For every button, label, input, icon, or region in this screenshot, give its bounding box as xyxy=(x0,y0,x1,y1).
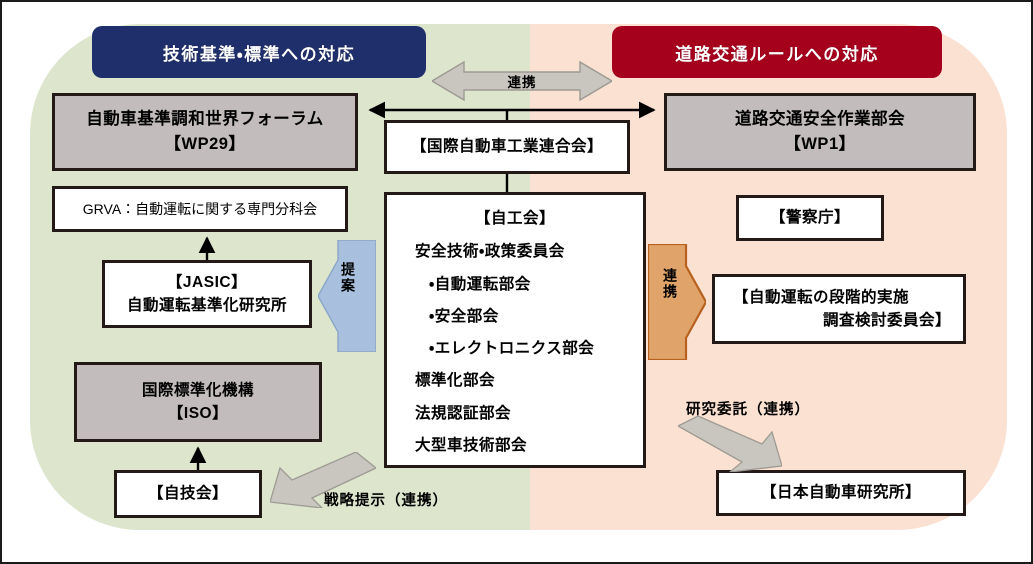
box-npa[interactable]: 【警察庁】 xyxy=(736,195,884,241)
box-jama-subcommittee-1: ・安全部会 xyxy=(387,305,643,328)
box-jama-subcommittee-2: ・エレクトロニクス部会 xyxy=(387,337,643,360)
box-jama-committee: 安全技術・政策委員会 xyxy=(387,240,643,263)
box-jasic-line2: 自動運転基準化研究所 xyxy=(127,294,287,317)
banner-road-traffic-rules: 道路交通ルールへの対応 xyxy=(612,26,942,78)
banner-technical-standards-label: 技術基準・標準への対応 xyxy=(163,40,355,65)
box-oica-label: 【国際自動車工業連合会】 xyxy=(411,135,603,158)
arrow-renkei-side: 連携 xyxy=(648,244,706,360)
box-wp1-line1: 道路交通安全作業部会 xyxy=(735,107,905,132)
box-iso-line1: 国際標準化機構 xyxy=(142,379,254,402)
arrow-teian-label: 提案 xyxy=(338,262,358,294)
box-grva[interactable]: GRVA：自動運転に関する専門分科会 xyxy=(52,186,348,232)
box-wp29[interactable]: 自動車基準調和世界フォーラム 【WP29】 xyxy=(52,93,358,171)
box-iso-line2: 【ISO】 xyxy=(168,402,228,425)
banner-road-traffic-rules-label: 道路交通ルールへの対応 xyxy=(675,40,879,65)
box-wp1-line2: 【WP1】 xyxy=(784,132,855,157)
box-jasic-line1: 【JASIC】 xyxy=(167,271,247,294)
arrow-kenkyu-label: 研究委託（連携） xyxy=(686,398,810,419)
box-jama-division-0: 標準化部会 xyxy=(387,369,643,392)
box-committee-staged-implementation-line2: 調査検討委員会】 xyxy=(715,309,963,332)
box-wp29-line2: 【WP29】 xyxy=(165,132,246,157)
banner-technical-standards: 技術基準・標準への対応 xyxy=(92,26,426,78)
arrow-renkei-side-label: 連携 xyxy=(660,268,680,300)
arrow-kenkyu xyxy=(678,416,782,472)
box-iso[interactable]: 国際標準化機構 【ISO】 xyxy=(74,362,322,442)
box-grva-label: GRVA：自動運転に関する専門分科会 xyxy=(83,199,317,220)
box-jari-label: 【日本自動車研究所】 xyxy=(761,481,921,504)
arrow-teian: 提案 xyxy=(318,240,376,352)
box-committee-staged-implementation-line1: 【自動運転の段階的実施 xyxy=(715,286,963,309)
box-jasic[interactable]: 【JASIC】 自動運転基準化研究所 xyxy=(102,260,312,328)
box-jama-title: 【自工会】 xyxy=(387,207,643,230)
box-wp1[interactable]: 道路交通安全作業部会 【WP1】 xyxy=(664,93,976,171)
arrow-senryaku-label: 戦略提示（連携） xyxy=(324,489,448,510)
box-jigikai-label: 【自技会】 xyxy=(148,482,228,505)
box-jama-division-2: 大型車技術部会 xyxy=(387,434,643,457)
box-jigikai[interactable]: 【自技会】 xyxy=(114,470,262,518)
box-jama-division-1: 法規認証部会 xyxy=(387,402,643,425)
arrow-right-icon xyxy=(648,244,706,360)
box-jama[interactable]: 【自工会】 安全技術・政策委員会 ・自動運転部会 ・安全部会 ・エレクトロニクス… xyxy=(384,192,646,468)
box-jama-subcommittee-0: ・自動運転部会 xyxy=(387,273,643,296)
box-oica[interactable]: 【国際自動車工業連合会】 xyxy=(384,120,630,174)
arrow-down-right-icon xyxy=(678,416,782,472)
arrow-left-icon xyxy=(318,240,376,352)
box-npa-label: 【警察庁】 xyxy=(770,206,850,229)
diagram-canvas: 技術基準・標準への対応 道路交通ルールへの対応 自動車基準調和世界フォーラム 【… xyxy=(0,0,1033,564)
box-committee-staged-implementation[interactable]: 【自動運転の段階的実施 調査検討委員会】 xyxy=(712,274,966,344)
box-wp29-line1: 自動車基準調和世界フォーラム xyxy=(86,107,324,132)
box-jari[interactable]: 【日本自動車研究所】 xyxy=(716,470,966,516)
